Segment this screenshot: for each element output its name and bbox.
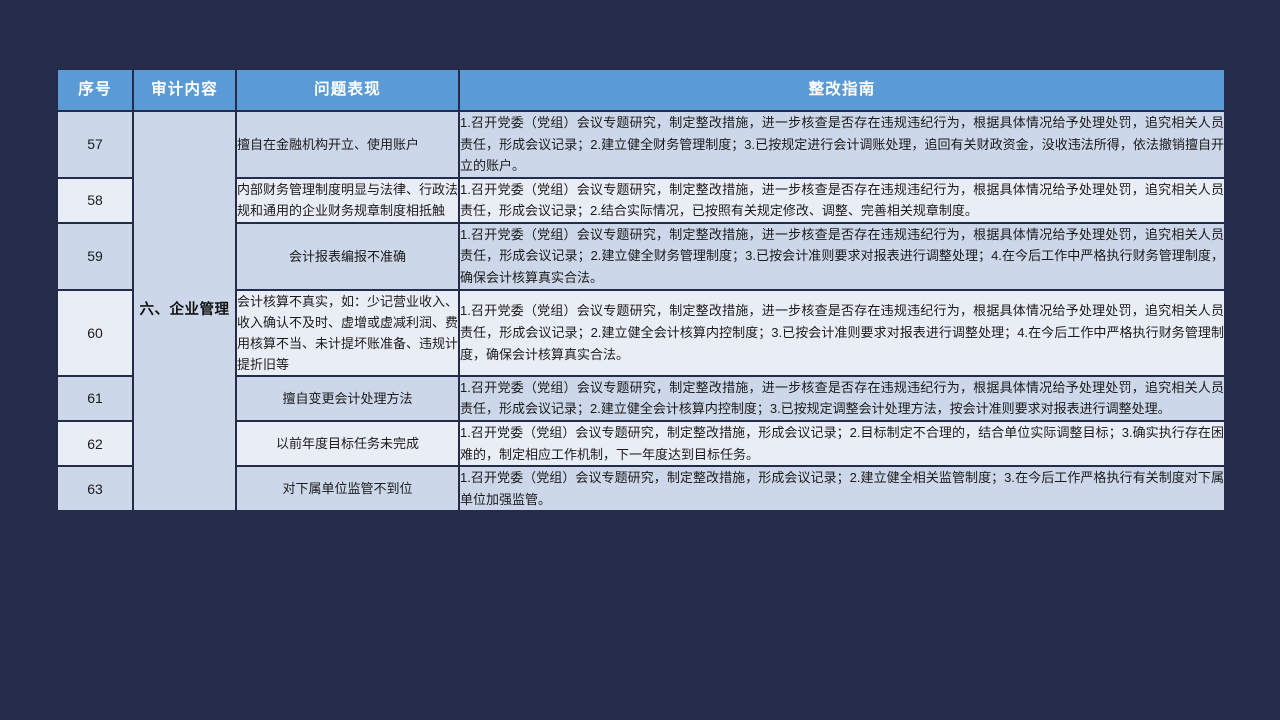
table-row: 57六、企业管理擅自在金融机构开立、使用账户1.召开党委（党组）会议专题研究，制… bbox=[57, 111, 1225, 178]
slide-canvas: 序号 审计内容 问题表现 整改指南 57六、企业管理擅自在金融机构开立、使用账户… bbox=[0, 0, 1280, 720]
cell-sequence: 61 bbox=[57, 376, 133, 421]
cell-issue: 对下属单位监管不到位 bbox=[236, 466, 459, 511]
header-row: 序号 审计内容 问题表现 整改指南 bbox=[57, 69, 1225, 111]
cell-sequence: 59 bbox=[57, 223, 133, 290]
column-header-issue: 问题表现 bbox=[236, 69, 459, 111]
column-header-audit-content: 审计内容 bbox=[133, 69, 236, 111]
cell-sequence: 63 bbox=[57, 466, 133, 511]
cell-sequence: 57 bbox=[57, 111, 133, 178]
cell-issue: 会计核算不真实，如：少记营业收入、收入确认不及时、虚增或虚减利润、费用核算不当、… bbox=[236, 290, 459, 376]
cell-audit-category: 六、企业管理 bbox=[133, 111, 236, 511]
table-body: 57六、企业管理擅自在金融机构开立、使用账户1.召开党委（党组）会议专题研究，制… bbox=[57, 111, 1225, 511]
column-header-guidance: 整改指南 bbox=[459, 69, 1225, 111]
cell-issue: 擅自在金融机构开立、使用账户 bbox=[236, 111, 459, 178]
cell-guidance: 1.召开党委（党组）会议专题研究，制定整改措施，进一步核查是否存在违规违纪行为，… bbox=[459, 376, 1225, 421]
cell-issue: 内部财务管理制度明显与法律、行政法规和通用的企业财务规章制度相抵触 bbox=[236, 178, 459, 223]
cell-issue: 会计报表编报不准确 bbox=[236, 223, 459, 290]
cell-guidance: 1.召开党委（党组）会议专题研究，制定整改措施，形成会议记录；2.建立健全相关监… bbox=[459, 466, 1225, 511]
table-header: 序号 审计内容 问题表现 整改指南 bbox=[57, 69, 1225, 111]
cell-guidance: 1.召开党委（党组）会议专题研究，制定整改措施，进一步核查是否存在违规违纪行为，… bbox=[459, 111, 1225, 178]
cell-guidance: 1.召开党委（党组）会议专题研究，制定整改措施，进一步核查是否存在违规违纪行为，… bbox=[459, 290, 1225, 376]
audit-rectification-table: 序号 审计内容 问题表现 整改指南 57六、企业管理擅自在金融机构开立、使用账户… bbox=[56, 68, 1226, 512]
cell-issue: 以前年度目标任务未完成 bbox=[236, 421, 459, 466]
cell-sequence: 60 bbox=[57, 290, 133, 376]
column-header-sequence: 序号 bbox=[57, 69, 133, 111]
cell-guidance: 1.召开党委（党组）会议专题研究，制定整改措施，进一步核查是否存在违规违纪行为，… bbox=[459, 223, 1225, 290]
cell-sequence: 62 bbox=[57, 421, 133, 466]
cell-guidance: 1.召开党委（党组）会议专题研究，制定整改措施，形成会议记录；2.目标制定不合理… bbox=[459, 421, 1225, 466]
cell-sequence: 58 bbox=[57, 178, 133, 223]
cell-guidance: 1.召开党委（党组）会议专题研究，制定整改措施，进一步核查是否存在违规违纪行为，… bbox=[459, 178, 1225, 223]
cell-issue: 擅自变更会计处理方法 bbox=[236, 376, 459, 421]
